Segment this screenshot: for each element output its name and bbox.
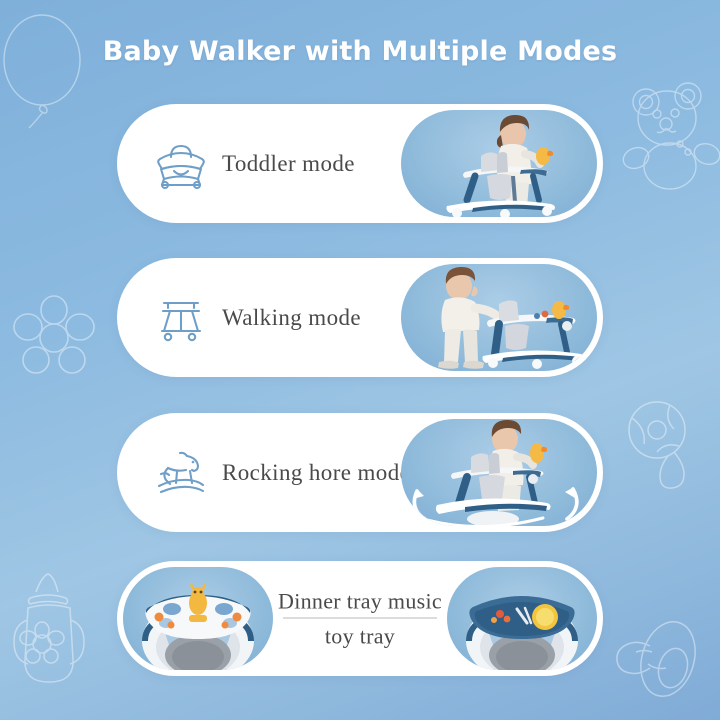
tray-divider [283,617,437,618]
mode-photo-toddler [401,110,597,217]
mode-label-walking: Walking mode [222,305,361,331]
pacifier-doodle [610,604,706,714]
baby-seated-in-walker-photo [401,110,597,217]
music-toy-tray-photo [123,567,273,670]
rocking-horse-icon [150,445,212,501]
baby-rocking-in-walker-photo [401,419,597,526]
tray-label-line2: toy tray [277,623,443,649]
balloon-doodle [0,8,88,128]
product-infographic: Baby Walker with Multiple Modes Toddler … [0,0,720,720]
tray-photo-right [447,567,597,670]
tray-card[interactable]: Dinner tray music toy tray [117,561,603,676]
mode-label-rocking-horse: Rocking hore mode [222,460,410,486]
mode-card-rocking-horse[interactable]: Rocking hore mode [117,413,603,532]
baby-bottle-doodle [4,568,90,693]
tray-text-block: Dinner tray music toy tray [277,588,443,649]
teddy-bear-doodle [622,70,720,185]
mode-photo-rocking-horse [401,419,597,526]
page-title: Baby Walker with Multiple Modes [0,36,720,67]
mode-label-toddler: Toddler mode [222,151,355,177]
mode-card-walking[interactable]: Walking mode [117,258,603,377]
baby-pushing-walker-photo [401,264,597,371]
tray-label-line1: Dinner tray music [277,588,443,614]
tray-photo-left [123,567,273,670]
rattle-doodle [624,398,702,498]
walker-dome-icon [150,136,212,192]
mode-card-toddler[interactable]: Toddler mode [117,104,603,223]
flower-doodle [8,292,100,384]
push-walker-frame-icon [150,290,212,346]
mode-photo-walking [401,264,597,371]
dinner-tray-photo [447,567,597,670]
